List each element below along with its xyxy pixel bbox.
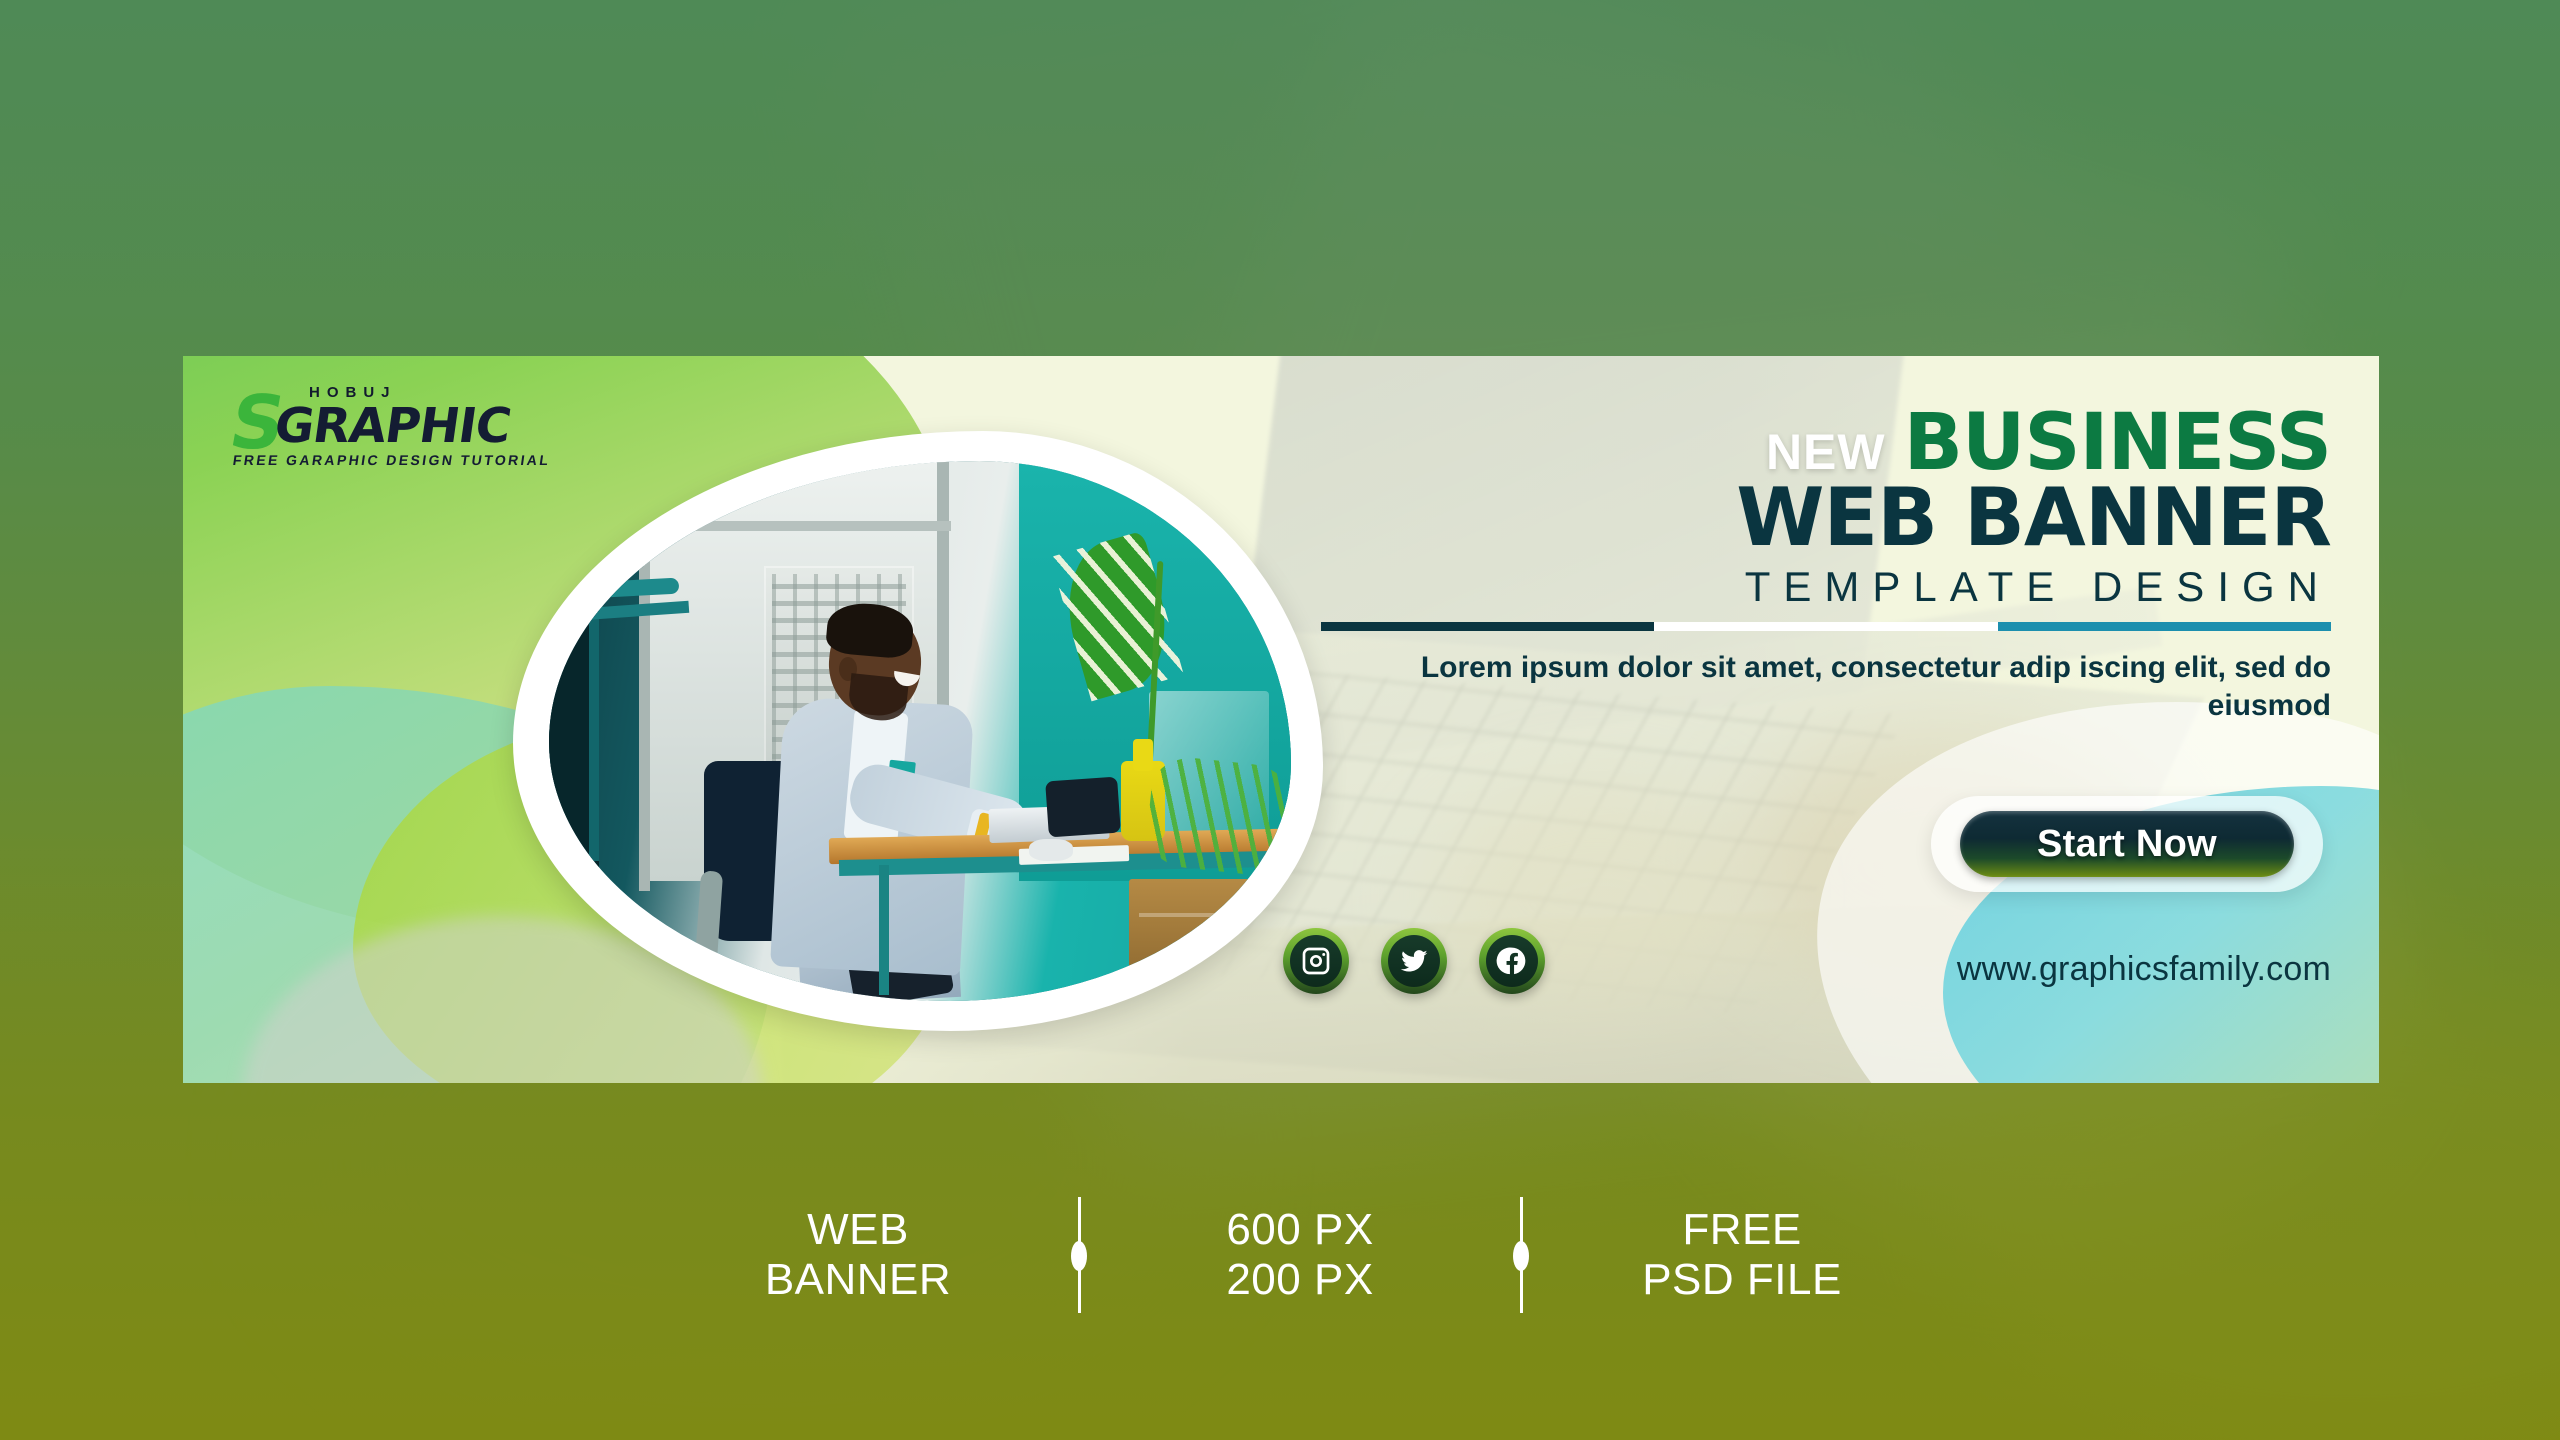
headline-divider [1321,622,2331,631]
hero-photo [513,431,1323,1031]
scene-drawer-cabinet [1129,879,1291,1001]
headline-web-banner: WEB BANNER [1321,478,2331,558]
headline-template-design: TEMPLATE DESIGN [1321,564,2331,610]
website-url[interactable]: www.graphicsfamily.com [1957,950,2331,989]
caption-line-2: 200 PX [1082,1255,1518,1305]
photo-image-businessman-at-desk [549,461,1291,1001]
banner-card: S HOBUJ GRAPHIC FREE GARAPHIC DESIGN TUT… [183,356,2379,1083]
logo-tagline: FREE GARAPHIC DESIGN TUTORIAL [232,452,552,468]
start-now-button-label: Start Now [2037,823,2217,866]
caption-separator [1518,1197,1524,1313]
caption-line-1: 600 PX [1082,1205,1518,1255]
divider-segment-navy [1321,622,1654,631]
social-links [1283,928,1545,994]
divider-segment-teal [1998,622,2331,631]
scene-grass-plant [1144,754,1291,878]
facebook-icon [1486,935,1538,987]
caption-line-1: WEB [640,1205,1076,1255]
caption-line-2: BANNER [640,1255,1076,1305]
body-paragraph: Lorem ipsum dolor sit amet, consectetur … [1321,649,2331,725]
scene-mullion [589,461,599,861]
scene-vase-neck [1133,739,1153,771]
start-now-button[interactable]: Start Now [1931,796,2323,892]
caption-item-free-psd: FREE PSD FILE [1524,1205,1960,1305]
separator-dot [1513,1241,1529,1271]
headline-business: BUSINESS [1904,406,2331,480]
separator-dot [1071,1241,1087,1271]
caption-item-dimensions: 600 PX 200 PX [1082,1205,1518,1305]
twitter-link[interactable] [1381,928,1447,994]
scene-drawer-line [1139,913,1289,917]
instagram-icon [1290,935,1342,987]
brand-logo[interactable]: S HOBUJ GRAPHIC FREE GARAPHIC DESIGN TUT… [231,384,551,464]
scene-window-frame [639,521,951,531]
twitter-icon [1388,935,1440,987]
headline-row-1: NEW BUSINESS [1321,406,2331,480]
instagram-link[interactable] [1283,928,1349,994]
caption-line-1: FREE [1524,1205,1960,1255]
scene-drawer-line [1139,961,1289,965]
caption-separator [1076,1197,1082,1313]
facebook-link[interactable] [1479,928,1545,994]
scene-mouse [1029,839,1073,861]
scene-desk-phone [1045,777,1121,838]
caption-line-2: PSD FILE [1524,1255,1960,1305]
caption-item-web-banner: WEB BANNER [640,1205,1076,1305]
scene-desk-leg [879,865,889,995]
headline-block: NEW BUSINESS WEB BANNER TEMPLATE DESIGN … [1321,406,2331,725]
divider-segment-white [1654,622,1997,631]
logo-graphic-text: GRAPHIC [272,402,514,450]
caption-row: WEB BANNER 600 PX 200 PX FREE PSD FILE [640,1175,1960,1335]
start-now-button-inner: Start Now [1960,811,2294,877]
